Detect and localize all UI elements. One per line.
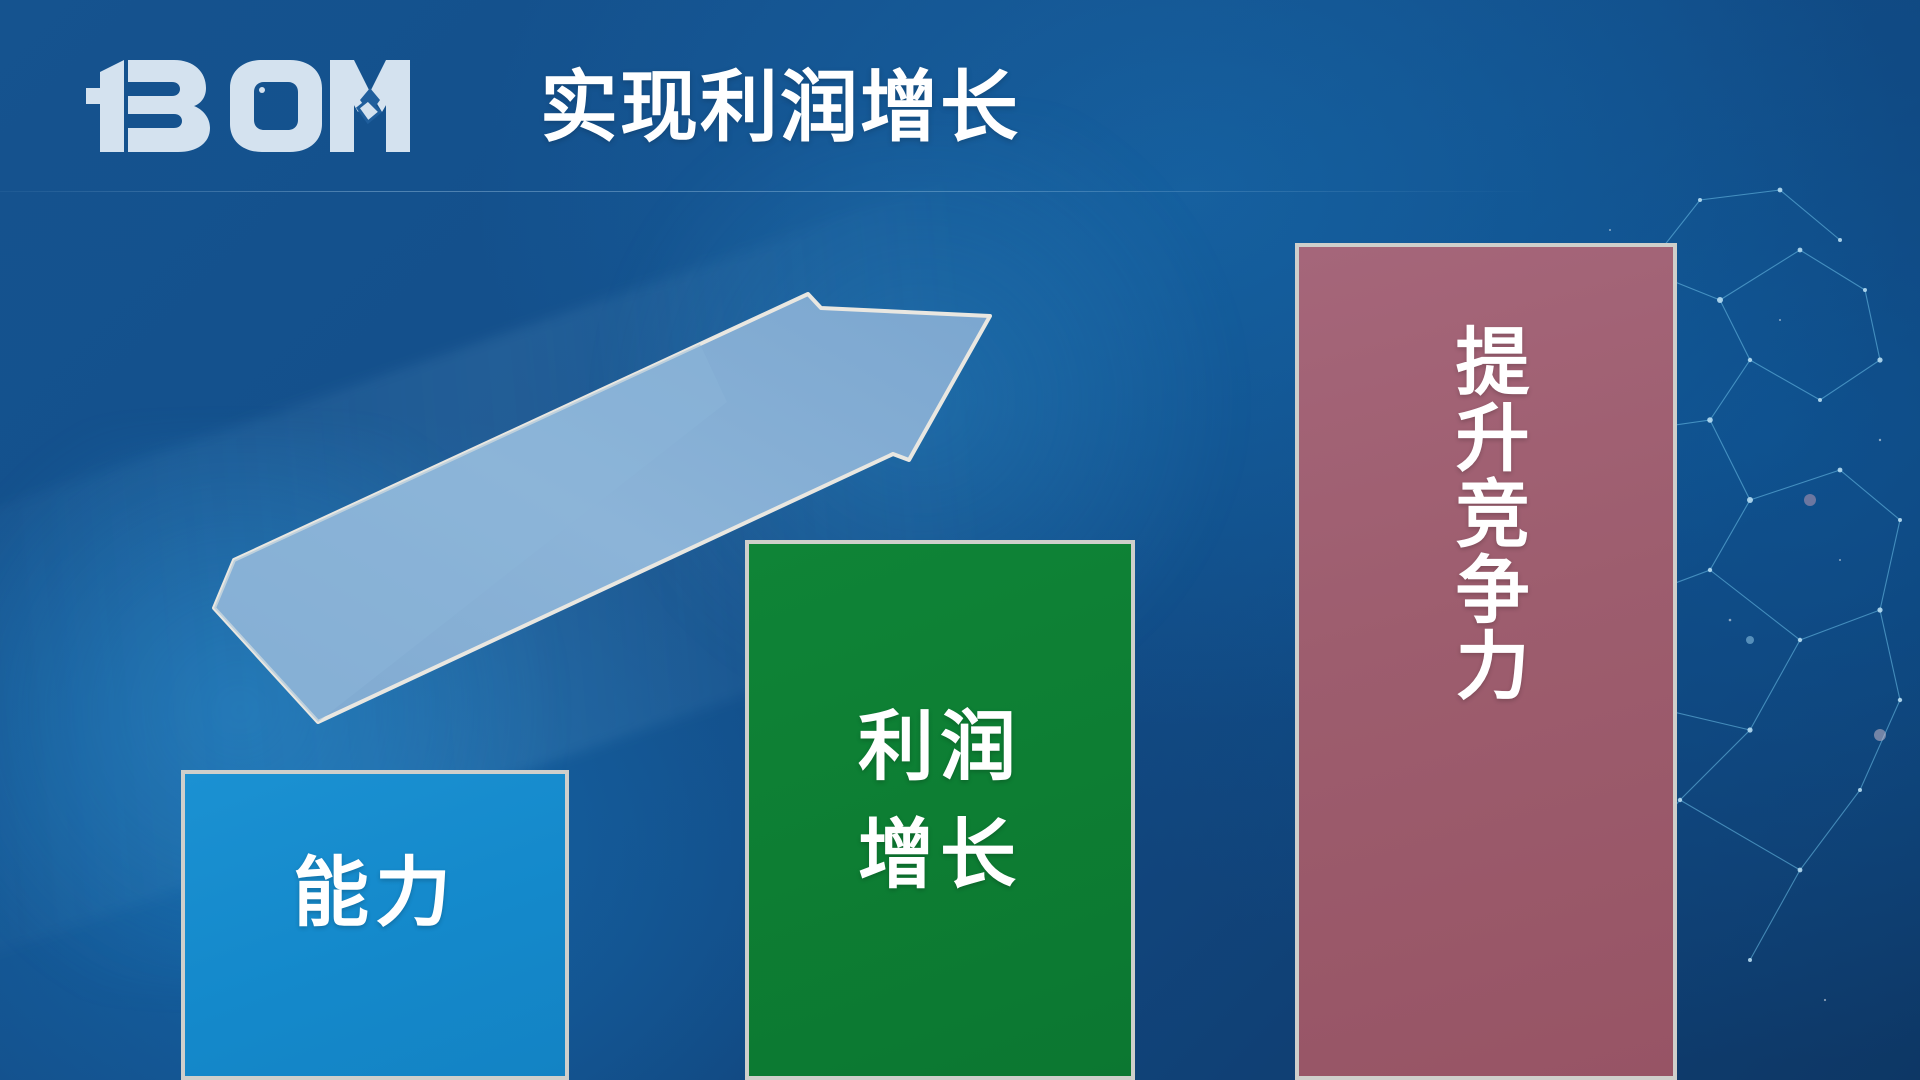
bom-logo-mark (82, 58, 412, 154)
bar-capability-label: 能力 (293, 852, 457, 934)
bar-profit-growth[interactable]: 利润 增长 (745, 540, 1135, 1080)
slide-header: BOM 实现利润增长 (0, 0, 1920, 192)
bar-competitiveness[interactable]: 提升竞争力 (1295, 243, 1677, 1080)
bar-capability[interactable]: 能力 (181, 770, 569, 1080)
page-title: 实现利润增长 (540, 60, 1020, 156)
bom-logo[interactable]: BOM (82, 58, 412, 154)
bar-profit-growth-label-line2: 增长 (858, 814, 1022, 896)
bar-profit-growth-label-line1: 利润 (858, 706, 1022, 788)
bar-competitiveness-label: 提升竞争力 (1441, 323, 1531, 703)
slide-canvas: BOM 实现利润增长 能力 利润 增长 提升竞争力 (0, 0, 1920, 1080)
